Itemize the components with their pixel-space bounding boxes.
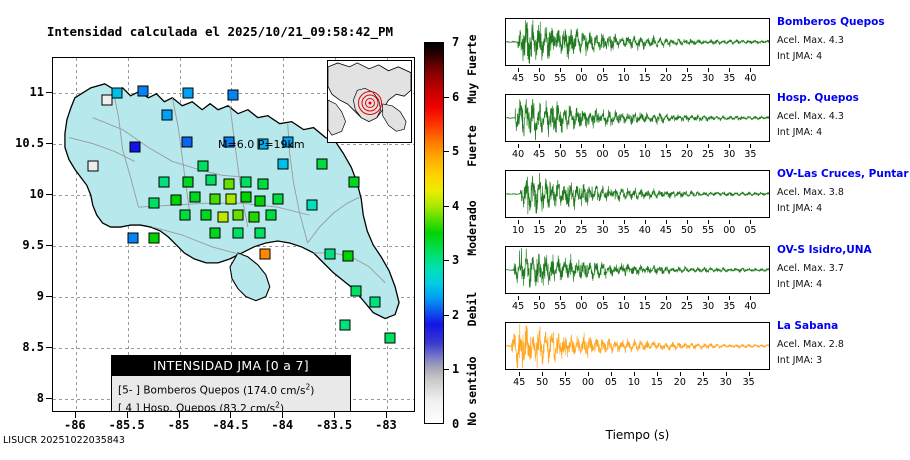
seismogram-x-tick-label: 15 — [660, 149, 672, 160]
seismogram-x-tick — [703, 372, 704, 376]
seismogram-x-tick-label: 15 — [639, 73, 651, 84]
colorbar-tick-label: 4 — [452, 199, 459, 213]
station-marker[interactable] — [228, 89, 239, 100]
seismogram-x-tick — [603, 296, 604, 300]
seismogram-x-tick — [539, 296, 540, 300]
seismogram-waveform — [506, 99, 769, 140]
map-y-tick-label: 8 — [0, 391, 44, 405]
station-marker[interactable] — [201, 210, 212, 221]
seismogram-x-axis-title: Tiempo (s) — [505, 428, 770, 442]
legend-station: Bomberos Quepos — [143, 385, 239, 397]
station-marker[interactable] — [158, 177, 169, 188]
legend-title: INTENSIDAD JMA [0 a 7] — [112, 356, 350, 376]
seismogram-x-tick-label: 25 — [681, 301, 693, 312]
seismogram-x-tick — [518, 296, 519, 300]
seismogram-x-tick — [645, 220, 646, 224]
map-y-tick — [46, 245, 52, 246]
seismogram-x-tick-label: 50 — [533, 73, 545, 84]
seismogram-x-tick-label: 45 — [660, 225, 672, 236]
seismogram-x-tick — [539, 220, 540, 224]
map-x-tick-label: -84.5 — [212, 418, 248, 432]
seismogram-x-tick — [749, 372, 750, 376]
seismogram-x-tick — [581, 144, 582, 148]
seismogram-x-tick-label: 10 — [639, 149, 651, 160]
seismogram-accel-max: Acel. Max. 2.8 — [777, 339, 844, 350]
station-marker[interactable] — [265, 210, 276, 221]
seismogram-x-tick-label: 55 — [559, 377, 571, 388]
station-marker[interactable] — [181, 136, 192, 147]
seismogram-x-tick-label: 35 — [744, 149, 756, 160]
map-plot-area[interactable]: INTENSIDAD JMA [0 a 7] [5- ] Bomberos Qu… — [52, 57, 415, 412]
seismogram-x-tick — [729, 144, 730, 148]
seismogram-int-jma: Int JMA: 4 — [777, 279, 822, 290]
seismogram-x-tick — [750, 296, 751, 300]
seismogram-x-tick-label: 10 — [618, 301, 630, 312]
seismogram-x-tick — [560, 144, 561, 148]
station-marker[interactable] — [340, 320, 351, 331]
seismogram-x-tick-label: 55 — [702, 225, 714, 236]
seismogram-int-jma: Int JMA: 4 — [777, 127, 822, 138]
seismogram-x-tick-label: 25 — [697, 377, 709, 388]
station-marker[interactable] — [88, 161, 99, 172]
seismogram-x-tick — [645, 144, 646, 148]
map-y-tick — [46, 296, 52, 297]
colorbar-tick-label: 6 — [452, 90, 459, 104]
seismogram-x-tick-label: 20 — [660, 73, 672, 84]
station-marker[interactable] — [249, 212, 260, 223]
legend-accel: (174.0 cm/s2) — [243, 385, 314, 397]
seismogram-x-tick-label: 20 — [674, 377, 686, 388]
seismogram-x-tick-label: 05 — [597, 73, 609, 84]
seismogram-x-tick-label: 45 — [513, 377, 525, 388]
seismogram-x-tick — [687, 220, 688, 224]
seismogram-x-tick-label: 50 — [554, 149, 566, 160]
seismogram-x-tick — [645, 68, 646, 72]
seismogram-x-tick — [624, 220, 625, 224]
seismogram-x-tick-label: 30 — [597, 225, 609, 236]
seismogram-int-jma: Int JMA: 4 — [777, 51, 822, 62]
seismogram-x-tick-label: 50 — [536, 377, 548, 388]
seismogram-x-tick-label: 35 — [743, 377, 755, 388]
station-marker[interactable] — [148, 197, 159, 208]
station-marker[interactable] — [182, 87, 193, 98]
seismogram-x-tick — [518, 68, 519, 72]
seismogram-int-jma: Int JMA: 3 — [777, 355, 822, 366]
seismogram-figure: 455055000510152025303540Bomberos QueposA… — [470, 0, 910, 460]
seismogram-station-name: La Sabana — [777, 320, 838, 332]
seismogram-waveform — [506, 173, 769, 215]
seismogram-station-name: OV-Las Cruces, Puntar — [777, 168, 909, 180]
seismogram-x-tick — [666, 68, 667, 72]
legend-jma: [ 4 ] — [118, 403, 140, 412]
map-x-tick-label: -83 — [375, 418, 397, 432]
station-marker[interactable] — [209, 228, 220, 239]
seismogram-x-tick — [750, 68, 751, 72]
station-marker[interactable] — [350, 285, 361, 296]
colorbar-gradient — [424, 42, 444, 424]
map-y-tick — [46, 194, 52, 195]
seismogram-x-tick — [726, 372, 727, 376]
seismogram-x-tick-label: 00 — [582, 377, 594, 388]
seismogram-x-tick-label: 25 — [575, 225, 587, 236]
seismogram-trace-area[interactable] — [505, 246, 770, 294]
colorbar-tick — [444, 369, 449, 370]
seismogram-x-tick — [750, 220, 751, 224]
seismogram-x-tick-label: 30 — [702, 301, 714, 312]
map-y-tick-label: 11 — [0, 85, 44, 99]
station-marker[interactable] — [127, 232, 138, 243]
seismogram-x-tick-label: 00 — [597, 149, 609, 160]
station-marker[interactable] — [255, 228, 266, 239]
seismogram-x-tick-label: 35 — [723, 301, 735, 312]
colorbar-tick — [444, 97, 449, 98]
seismogram-x-tick — [581, 296, 582, 300]
seismogram-x-tick-label: 00 — [575, 73, 587, 84]
colorbar-tick — [444, 151, 449, 152]
station-marker[interactable] — [240, 191, 251, 202]
seismogram-x-tick-label: 10 — [512, 225, 524, 236]
station-marker[interactable] — [316, 159, 327, 170]
seismogram-x-tick-label: 30 — [723, 149, 735, 160]
colorbar-tick — [444, 206, 449, 207]
seismogram-accel-max: Acel. Max. 4.3 — [777, 35, 844, 46]
seismogram-x-tick — [560, 220, 561, 224]
seismogram-x-tick-label: 20 — [681, 149, 693, 160]
epicenter-marker — [369, 102, 372, 105]
seismogram-x-tick-label: 20 — [660, 301, 672, 312]
seismogram-accel-max: Acel. Max. 3.8 — [777, 187, 844, 198]
seismogram-x-tick — [687, 68, 688, 72]
station-marker[interactable] — [179, 210, 190, 221]
seismogram-x-tick — [624, 296, 625, 300]
seismogram-x-tick — [666, 220, 667, 224]
seismogram-x-tick — [708, 144, 709, 148]
station-marker[interactable] — [307, 199, 318, 210]
footer-id: LISUCR 20251022035843 — [3, 435, 125, 446]
seismogram-x-tick-label: 35 — [618, 225, 630, 236]
seismogram-x-tick-label: 15 — [533, 225, 545, 236]
seismogram-x-tick-label: 05 — [744, 225, 756, 236]
seismogram-x-tick — [588, 372, 589, 376]
map-x-tick-label: -84 — [271, 418, 293, 432]
colorbar-tick-label: 5 — [452, 144, 459, 158]
station-marker[interactable] — [259, 248, 270, 259]
seismogram-x-tick-label: 45 — [533, 149, 545, 160]
seismogram-x-tick — [666, 144, 667, 148]
seismogram-station-name: Bomberos Quepos — [777, 16, 885, 28]
station-marker[interactable] — [218, 212, 229, 223]
seismogram-waveform — [506, 20, 769, 64]
seismogram-x-tick-label: 15 — [639, 301, 651, 312]
legend-row: [ 4 ] Hosp. Quepos (83.2 cm/s2) — [118, 398, 345, 412]
seismogram-x-tick-label: 10 — [618, 73, 630, 84]
station-marker[interactable] — [240, 177, 251, 188]
station-marker[interactable] — [209, 193, 220, 204]
station-marker[interactable] — [148, 232, 159, 243]
seismogram-x-tick-label: 15 — [651, 377, 663, 388]
seismogram-x-tick-label: 25 — [681, 73, 693, 84]
colorbar-tick-label: 0 — [452, 417, 459, 431]
colorbar-tick-label: 2 — [452, 308, 459, 322]
station-marker[interactable] — [129, 141, 140, 152]
seismogram-x-tick — [603, 144, 604, 148]
seismogram-x-tick — [687, 296, 688, 300]
seismogram-x-tick-label: 05 — [597, 301, 609, 312]
seismogram-waveform — [506, 324, 769, 368]
seismogram-x-tick-label: 55 — [554, 301, 566, 312]
map-y-tick — [46, 92, 52, 93]
colorbar-tick-label: 1 — [452, 362, 459, 376]
seismogram-x-tick-label: 30 — [720, 377, 732, 388]
seismogram-x-tick — [624, 144, 625, 148]
station-marker[interactable] — [255, 195, 266, 206]
seismogram-station-name: Hosp. Quepos — [777, 92, 859, 104]
seismogram-trace-area[interactable] — [505, 18, 770, 66]
seismogram-x-tick — [581, 68, 582, 72]
station-marker[interactable] — [224, 179, 235, 190]
map-y-tick — [46, 143, 52, 144]
legend-jma: [5- ] — [118, 385, 140, 397]
seismogram-x-tick — [687, 144, 688, 148]
seismogram-x-tick — [539, 144, 540, 148]
station-marker[interactable] — [232, 228, 243, 239]
station-marker[interactable] — [324, 248, 335, 259]
colorbar-tick-label: 3 — [452, 253, 459, 267]
station-marker[interactable] — [205, 175, 216, 186]
seismogram-station-name: OV-S Isidro,UNA — [777, 244, 872, 256]
station-marker[interactable] — [226, 193, 237, 204]
colorbar-tick-label: 7 — [452, 35, 459, 49]
seismogram-x-tick — [560, 296, 561, 300]
station-marker[interactable] — [369, 296, 380, 307]
seismogram-x-tick — [708, 220, 709, 224]
magnitude-depth-label: M=6.0 P=19km — [218, 138, 305, 151]
seismogram-int-jma: Int JMA: 4 — [777, 203, 822, 214]
map-x-tick-label: -85.5 — [109, 418, 145, 432]
station-marker[interactable] — [182, 177, 193, 188]
colorbar-tick — [444, 260, 449, 261]
epicenter-inset-map — [327, 60, 412, 143]
seismogram-x-tick — [666, 296, 667, 300]
seismogram-x-tick — [750, 144, 751, 148]
station-marker[interactable] — [278, 159, 289, 170]
seismogram-x-tick — [603, 68, 604, 72]
intensity-legend: INTENSIDAD JMA [0 a 7] [5- ] Bomberos Qu… — [111, 355, 351, 412]
seismogram-trace-area[interactable] — [505, 94, 770, 142]
seismogram-x-tick — [539, 68, 540, 72]
seismogram-x-tick — [603, 220, 604, 224]
seismogram-x-tick-label: 40 — [744, 73, 756, 84]
seismogram-x-tick — [518, 220, 519, 224]
seismogram-x-tick — [708, 68, 709, 72]
seismogram-x-tick — [518, 144, 519, 148]
seismogram-trace-area[interactable] — [505, 170, 770, 218]
map-y-tick-label: 9 — [0, 289, 44, 303]
map-y-tick-label: 9.5 — [0, 238, 44, 252]
seismogram-x-tick — [560, 68, 561, 72]
seismogram-x-tick-label: 40 — [744, 301, 756, 312]
seismogram-waveform — [506, 248, 769, 287]
map-x-tick-label: -86 — [64, 418, 86, 432]
seismogram-x-tick-label: 10 — [628, 377, 640, 388]
colorbar-tick — [444, 315, 449, 316]
legend-station: Hosp. Quepos — [143, 403, 216, 412]
station-marker[interactable] — [190, 191, 201, 202]
seismogram-x-tick — [657, 372, 658, 376]
station-marker[interactable] — [138, 85, 149, 96]
seismogram-x-tick — [581, 220, 582, 224]
seismogram-x-tick — [708, 296, 709, 300]
map-y-tick — [46, 398, 52, 399]
seismogram-x-tick — [680, 372, 681, 376]
station-marker[interactable] — [273, 193, 284, 204]
seismogram-x-tick — [729, 220, 730, 224]
seismogram-x-tick-label: 50 — [681, 225, 693, 236]
map-y-tick-label: 10 — [0, 187, 44, 201]
seismogram-x-tick — [729, 296, 730, 300]
legend-accel: (83.2 cm/s2) — [219, 403, 284, 412]
station-marker[interactable] — [385, 332, 396, 343]
station-marker[interactable] — [348, 177, 359, 188]
station-marker[interactable] — [162, 110, 173, 121]
seismogram-x-tick-label: 20 — [554, 225, 566, 236]
seismogram-x-tick — [519, 372, 520, 376]
seismogram-x-tick — [611, 372, 612, 376]
map-y-tick — [46, 347, 52, 348]
seismogram-x-tick — [565, 372, 566, 376]
seismogram-x-tick — [542, 372, 543, 376]
seismogram-x-tick — [645, 296, 646, 300]
seismogram-x-tick-label: 40 — [639, 225, 651, 236]
legend-rows: [5- ] Bomberos Quepos (174.0 cm/s2)[ 4 ]… — [112, 376, 350, 412]
page-title: Intensidad calculada el 2025/10/21_09:58… — [0, 24, 440, 39]
seismogram-x-tick-label: 55 — [554, 73, 566, 84]
station-marker[interactable] — [198, 161, 209, 172]
seismogram-x-tick-label: 40 — [512, 149, 524, 160]
map-x-tick-label: -85 — [168, 418, 190, 432]
seismogram-x-tick — [634, 372, 635, 376]
station-marker[interactable] — [112, 87, 123, 98]
seismogram-x-tick-label: 00 — [575, 301, 587, 312]
map-y-tick-label: 10.5 — [0, 136, 44, 150]
map-x-tick-label: -83.5 — [316, 418, 352, 432]
station-marker[interactable] — [257, 179, 268, 190]
station-marker[interactable] — [232, 210, 243, 221]
intensity-map-figure: Intensidad calculada el 2025/10/21_09:58… — [0, 0, 470, 460]
legend-row: [5- ] Bomberos Quepos (174.0 cm/s2) — [118, 380, 345, 398]
seismogram-x-tick-label: 35 — [723, 73, 735, 84]
station-marker[interactable] — [171, 194, 182, 205]
seismogram-x-tick — [729, 68, 730, 72]
map-y-tick-label: 8.5 — [0, 340, 44, 354]
intensity-colorbar: 01234567 No sentidoDebilModeradoFuerteMu… — [424, 42, 470, 424]
seismogram-x-tick-label: 05 — [618, 149, 630, 160]
seismogram-accel-max: Acel. Max. 4.3 — [777, 111, 844, 122]
seismogram-trace-area[interactable] — [505, 322, 770, 370]
station-marker[interactable] — [342, 250, 353, 261]
seismogram-x-tick-label: 30 — [702, 73, 714, 84]
seismogram-x-tick-label: 45 — [512, 73, 524, 84]
seismogram-accel-max: Acel. Max. 3.7 — [777, 263, 844, 274]
seismogram-x-tick — [624, 68, 625, 72]
seismogram-x-tick-label: 25 — [702, 149, 714, 160]
seismogram-x-tick-label: 05 — [605, 377, 617, 388]
seismogram-x-tick-label: 50 — [533, 301, 545, 312]
seismogram-x-tick-label: 55 — [575, 149, 587, 160]
seismogram-x-tick-label: 45 — [512, 301, 524, 312]
seismogram-x-tick-label: 00 — [723, 225, 735, 236]
station-marker[interactable] — [101, 94, 112, 105]
